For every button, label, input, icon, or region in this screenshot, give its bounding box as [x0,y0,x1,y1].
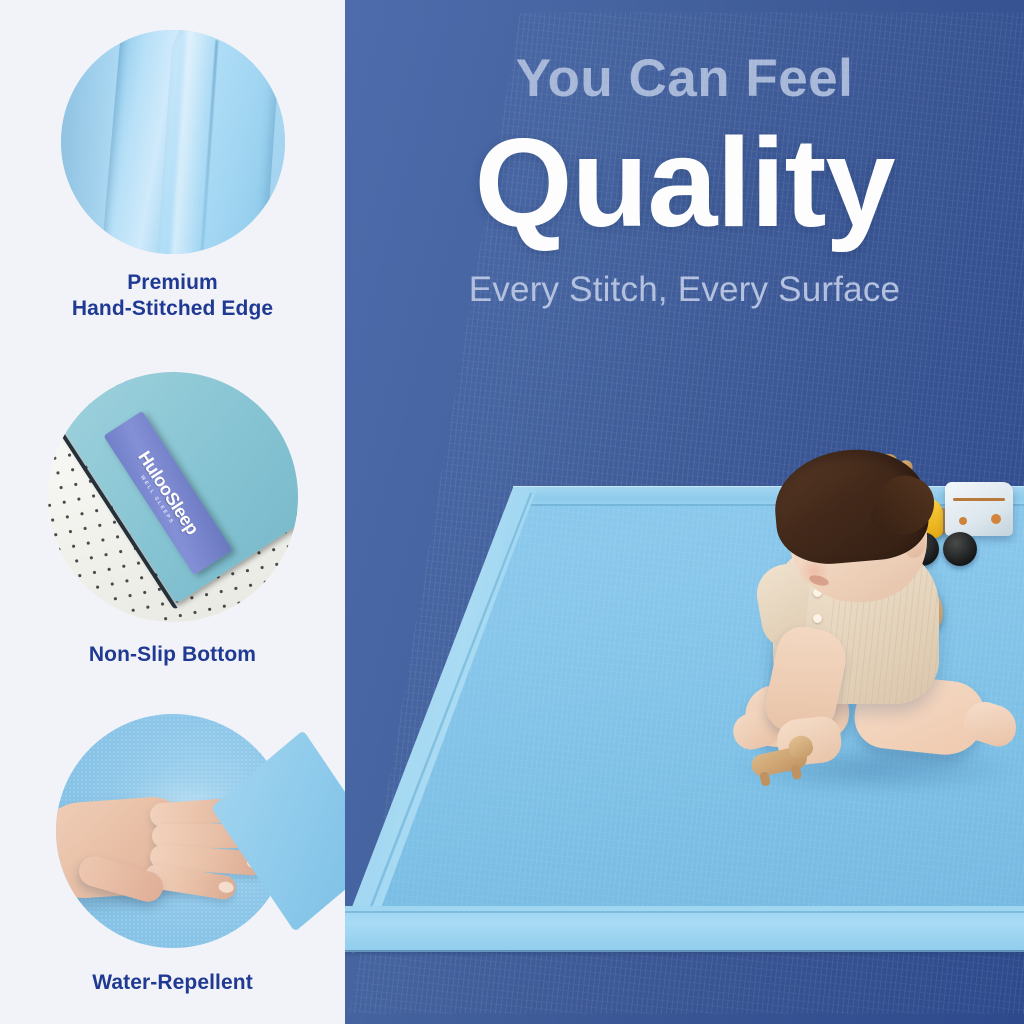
play-mat-stitch-bottom [345,911,1024,913]
feature-label-line2: Hand-Stitched Edge [0,296,345,322]
fingernail [217,881,234,894]
play-mat-scene [345,0,1024,1024]
feature-label-premium: Premium Hand-Stitched Edge [0,270,345,321]
feature-image-folded-fabric-edge [61,30,285,254]
play-mat-drop-shadow [345,950,1024,957]
promo-image-root: Premium Hand-Stitched Edge HulooSl Huloo… [0,0,1024,1024]
feature-label-water-repellent: Water-Repellent [0,970,345,996]
baby-romper-button [813,614,822,623]
feature-label-line1: Water-Repellent [0,970,345,996]
feature-non-slip-bottom: HulooSl HulooSleep WELL SLEEPS Non-Slip … [0,372,345,668]
features-panel: Premium Hand-Stitched Edge HulooSl Huloo… [0,0,345,1024]
feature-label-line1: Non-Slip Bottom [0,642,345,668]
feature-image-non-slip-bottom: HulooSl HulooSleep WELL SLEEPS [48,372,298,622]
hero-panel: You Can Feel Quality Every Stitch, Every… [345,0,1024,1024]
feature-premium-hand-stitched-edge: Premium Hand-Stitched Edge [0,30,345,321]
feature-label-line1: Premium [0,270,345,296]
feature-label-non-slip: Non-Slip Bottom [0,642,345,668]
